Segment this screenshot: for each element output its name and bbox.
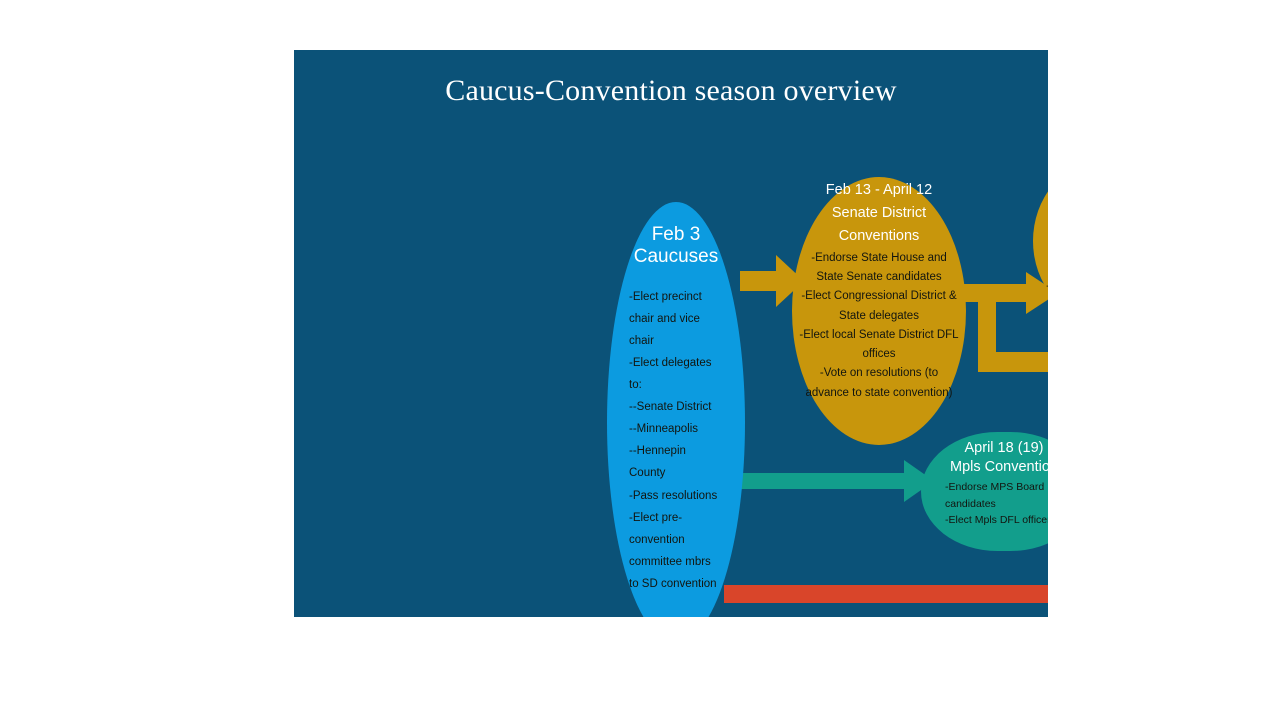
node-senate-district-conventions[interactable]: Feb 13 - April 12Senate DistrictConventi… [792, 177, 966, 445]
slide-caucus-convention-overview: Caucus-Convention season overview Feb 3C… [294, 50, 1048, 617]
screenshot-canvas: Caucus-Convention season overview Feb 3C… [0, 0, 1280, 720]
node-cd5-body: -Endorse CD5 candidate-Elect CD5 DFL off… [1045, 243, 1048, 295]
node-caucuses-heading: Feb 3Caucuses [634, 224, 719, 269]
arrow-caucuses-to-hennepin-county [724, 568, 1048, 617]
node-senate-district-body: -Endorse State House and State Senate ca… [794, 249, 964, 404]
node-caucuses[interactable]: Feb 3Caucuses -Elect precinct chair and … [607, 202, 745, 617]
node-mpls-convention[interactable]: April 18 (19)Mpls Convention -Endorse MP… [921, 432, 1048, 551]
node-congressional-district-5-convention[interactable]: May 9CongressionalDistrict 5Convention -… [1033, 162, 1048, 320]
node-mpls-convention-body: -Endorse MPS Board candidates-Elect Mpls… [927, 477, 1048, 528]
node-senate-district-heading: Feb 13 - April 12Senate DistrictConventi… [826, 179, 932, 249]
arrow-caucuses-to-mpls-convention [740, 456, 936, 506]
node-mpls-convention-heading: April 18 (19)Mpls Convention [950, 439, 1048, 477]
node-caucuses-body: -Elect precinct chair and vice chair-Ele… [617, 286, 735, 595]
page-title: Caucus-Convention season overview [294, 74, 1048, 108]
